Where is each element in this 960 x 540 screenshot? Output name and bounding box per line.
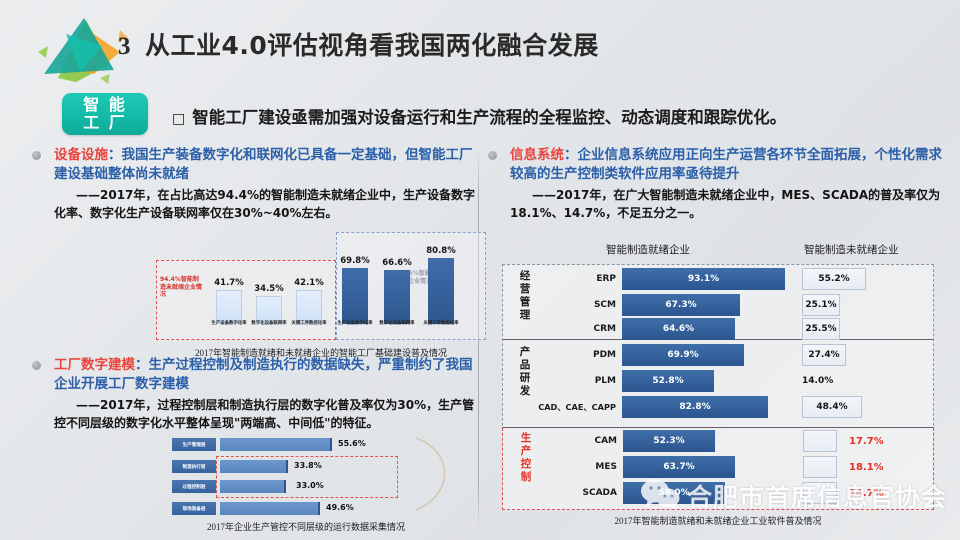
chart3-ready-bar: 82.8%	[622, 396, 768, 418]
chart3-column-header-ready: 智能制造就绪企业	[606, 242, 690, 257]
chart3-caption: 2017年智能制造就绪和未就绪企业工业软件普及情况	[502, 514, 934, 530]
chart3-row: CAM 52.3% 17.7%	[503, 430, 935, 452]
chart1-bar	[428, 258, 454, 324]
chart2-row: 现场装备层 49.6%	[220, 502, 320, 515]
chart3-group-production-control: 生产控制 CAM 52.3% 17.7% MES 63.7% 18.1% SCA…	[502, 428, 934, 510]
chart2-row: 制造执行层 33.8%	[220, 460, 288, 473]
chart1-axis-label: 关键工序数控化率	[418, 321, 464, 327]
badge-line-1: 智 能	[83, 96, 127, 114]
chart3-unready-box: 55.2%	[802, 268, 866, 290]
chart-production-control-data: 生产管理层 55.6% 制造执行层 33.8% 过程控制层 33.0% 现场装备…	[176, 436, 476, 524]
chart2-value: 55.6%	[338, 439, 366, 448]
chart1-bar-group: 69.8% 生产设备数字化率	[342, 268, 368, 324]
chart2-bar	[220, 502, 320, 515]
chart1-bar	[384, 270, 410, 324]
chart3-unready-value: 14.7%	[849, 482, 884, 504]
chart3-row: CRM 64.6% 25.5%	[502, 318, 934, 340]
chart3-row-label: PLM	[538, 370, 616, 392]
chart3-row: PLM 52.8% 14.0%	[502, 370, 934, 392]
modeling-colon: ：	[135, 357, 149, 373]
chart2-curve-decoration	[412, 436, 476, 512]
chart3-unready-box: 25.5%	[802, 318, 840, 340]
chart3-ready-bar: 69.9%	[622, 344, 744, 366]
subtitle-text: □智能工厂建设亟需加强对设备运行和生产流程的全程监控、动态调度和跟踪优化。	[172, 104, 786, 128]
infosys-sub: ——2017年，在广大智能制造未就绪企业中，MES、SCADA的普及率仅为18.…	[510, 187, 946, 222]
chart3-row-label: MES	[539, 456, 617, 478]
chart2-row: 生产管理层 55.6%	[220, 438, 332, 451]
chart1-axis-label: 数字化设备联网率	[374, 321, 420, 327]
chart3-ready-bar: 58.0%	[623, 482, 725, 504]
subtitle-body: 智能工厂建设亟需加强对设备运行和生产流程的全程监控、动态调度和跟踪优化。	[192, 108, 786, 127]
chart3-column-header-unready: 智能制造未就绪企业	[804, 242, 899, 257]
chart-industrial-software-adoption: 智能制造就绪企业 智能制造未就绪企业 经营管理 ERP 93.1% 55.2% …	[502, 242, 934, 532]
chart3-row: ERP 93.1% 55.2%	[502, 268, 934, 290]
chart3-ready-bar: 67.3%	[622, 294, 740, 316]
badge-line-2: 工 厂	[83, 114, 127, 132]
chart1-value: 42.1%	[287, 278, 331, 288]
chart1-bar	[296, 290, 322, 324]
square-bullet-icon: □	[172, 111, 185, 127]
chart3-unready-box: 14.0%	[802, 370, 842, 392]
modeling-keyword: 工厂数字建模	[54, 357, 135, 373]
chart3-unready-box	[803, 482, 837, 504]
chart2-row: 过程控制层 33.0%	[220, 480, 286, 493]
chart2-row-label: 过程控制层	[172, 480, 216, 493]
equipment-keyword: 设备设施	[54, 147, 108, 163]
chart1-bar-group: 80.8% 关键工序数控化率	[428, 258, 454, 324]
equipment-lead: 设备设施：我国生产装备数字化和联网化已具备一定基础，但智能工厂建设基础整体尚未就…	[54, 146, 478, 184]
subtitle-band: 智 能 工 厂 □智能工厂建设亟需加强对设备运行和生产流程的全程监控、动态调度和…	[0, 92, 960, 136]
modeling-sub: ——2017年，过程控制层和制造执行层的数字化普及率仅为30%，生产管控不同层级…	[54, 397, 478, 432]
chart3-row: SCADA 58.0% 14.7%	[503, 482, 935, 504]
chart1-bar-group: 41.7% 生产设备数字化率	[216, 290, 242, 324]
infosys-lead: 信息系统：企业信息系统应用正向生产运营各环节全面拓展，个性化需求较高的生产控制类…	[510, 146, 946, 184]
chart2-value: 33.0%	[296, 481, 324, 490]
chart1-bar	[342, 268, 368, 324]
bullet-dot-icon	[32, 361, 41, 370]
chart3-unready-box: 25.1%	[802, 294, 840, 316]
bullet-dot-icon	[488, 151, 497, 160]
infosys-colon: ：	[564, 147, 578, 163]
chart1-bar-group: 66.6% 数字化设备联网率	[384, 270, 410, 324]
chart3-unready-box: 48.4%	[802, 396, 862, 418]
chart1-bar-group: 42.1% 关键工序数控化率	[296, 290, 322, 324]
chart3-unready-box: 27.4%	[802, 344, 846, 366]
title-text: 从工业4.0评估视角看我国两化融合发展	[145, 31, 599, 60]
chart1-axis-label: 关键工序数控化率	[286, 321, 332, 327]
chart1-value: 66.6%	[375, 258, 419, 268]
chart1-value: 41.7%	[207, 278, 251, 288]
chart1-unready-label: 94.4%智能制造未就绪企业情况	[160, 276, 204, 299]
chart3-row-label: SCM	[538, 294, 616, 316]
chart3-unready-value: 18.1%	[849, 456, 884, 478]
chart3-ready-bar: 52.8%	[622, 370, 714, 392]
equipment-colon: ：	[108, 147, 122, 163]
modeling-lead: 工厂数字建模：生产过程控制及制造执行的数据缺失，严重制约了我国企业开展工厂数字建…	[54, 356, 478, 394]
smart-factory-badge: 智 能 工 厂	[62, 93, 148, 135]
chart1-value: 69.8%	[333, 256, 377, 266]
bullet-dot-icon	[32, 151, 41, 160]
chart2-row-label: 生产管理层	[172, 438, 216, 451]
left-column: 设备设施：我国生产装备数字化和联网化已具备一定基础，但智能工厂建设基础整体尚未就…	[28, 146, 478, 222]
chart3-row-label: CRM	[538, 318, 616, 340]
chart3-row-label: SCADA	[539, 482, 617, 504]
chart1-axis-label: 生产设备数字化率	[332, 321, 378, 327]
chart2-bar	[220, 460, 288, 473]
chart3-row: PDM 69.9% 27.4%	[502, 344, 934, 366]
chart3-row: CAD、CAE、CAPP 82.8% 48.4%	[502, 396, 934, 418]
infosys-keyword: 信息系统	[510, 147, 564, 163]
chart1-value: 80.8%	[419, 246, 463, 256]
chart1-bar-group: 34.5% 数字化设备联网率	[256, 296, 282, 324]
chart3-row-label: CAD、CAE、CAPP	[524, 396, 616, 418]
chart3-row-label: ERP	[538, 268, 616, 290]
chart3-ready-bar: 52.3%	[623, 430, 715, 452]
chart3-row: MES 63.7% 18.1%	[503, 456, 935, 478]
chart2-value: 49.6%	[326, 503, 354, 512]
chart2-caption: 2017年企业生产管控不同层级的运行数据采集情况	[156, 520, 456, 533]
chart3-unready-box	[803, 456, 837, 478]
equipment-sub: ——2017年，在占比高达94.4%的智能制造未就绪企业中，生产设备数字化率、数…	[54, 187, 478, 222]
chart3-ready-bar: 93.1%	[622, 268, 785, 290]
section-number: 3	[118, 33, 131, 60]
chart3-ready-bar: 63.7%	[623, 456, 735, 478]
slide-header: 3从工业4.0评估视角看我国两化融合发展	[0, 0, 960, 88]
left-block-modeling: 工厂数字建模：生产过程控制及制造执行的数据缺失，严重制约了我国企业开展工厂数字建…	[28, 356, 478, 432]
chart3-group-management: 经营管理 ERP 93.1% 55.2% SCM 67.3% 25.1% CRM…	[502, 264, 934, 340]
chart-smart-factory-infrastructure: 94.4%智能制造未就绪企业情况 5.6%智能制造就绪企业情况 41.7% 生产…	[156, 232, 486, 342]
left-block-equipment: 设备设施：我国生产装备数字化和联网化已具备一定基础，但智能工厂建设基础整体尚未就…	[28, 146, 478, 222]
chart3-row: SCM 67.3% 25.1%	[502, 294, 934, 316]
page-title: 3从工业4.0评估视角看我国两化融合发展	[118, 26, 599, 62]
chart2-bar	[220, 438, 332, 451]
chart3-unready-box	[803, 430, 837, 452]
chart3-ready-bar: 64.6%	[622, 318, 735, 340]
chart2-value: 33.8%	[294, 461, 322, 470]
right-column: 信息系统：企业信息系统应用正向生产运营各环节全面拓展，个性化需求较高的生产控制类…	[484, 146, 946, 222]
chart3-unready-value: 17.7%	[849, 430, 884, 452]
chart2-row-label: 现场装备层	[172, 502, 216, 515]
chart1-bar	[216, 290, 242, 324]
chart2-row-label: 制造执行层	[172, 460, 216, 473]
chart3-group-rnd: 产品研发 PDM 69.9% 27.4% PLM 52.8% 14.0% CAD…	[502, 340, 934, 428]
chart3-row-label: CAM	[539, 430, 617, 452]
chart3-row-label: PDM	[538, 344, 616, 366]
chart2-bar	[220, 480, 286, 493]
chart1-value: 34.5%	[247, 284, 291, 294]
right-block-information-systems: 信息系统：企业信息系统应用正向生产运营各环节全面拓展，个性化需求较高的生产控制类…	[484, 146, 946, 222]
